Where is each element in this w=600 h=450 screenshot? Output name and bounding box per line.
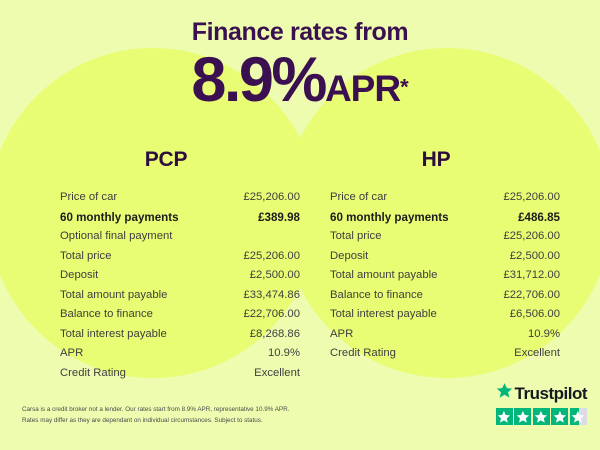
table-row: Credit RatingExcellent [60, 364, 300, 383]
header-block: Finance rates from 8.9%APR* [0, 0, 600, 112]
trustpilot-badge[interactable]: Trustpilot [496, 382, 587, 425]
rate-suffix: APR [325, 68, 400, 109]
row-value: £25,206.00 [243, 192, 300, 203]
page-title: Finance rates from [0, 18, 600, 47]
table-row: APR10.9% [330, 325, 560, 344]
row-label: Balance to finance [60, 309, 153, 320]
trustpilot-star-rating [496, 408, 587, 425]
table-row: Total interest payable£8,268.86 [60, 325, 300, 344]
row-label: Total price [330, 231, 382, 242]
row-value: £22,706.00 [503, 290, 560, 301]
table-row: 60 monthly payments£486.85 [330, 207, 560, 227]
rate-headline: 8.9%APR* [0, 49, 600, 112]
rate-asterisk: * [400, 75, 409, 100]
table-row: Deposit£2,500.00 [330, 247, 560, 266]
row-label: Deposit [330, 251, 368, 262]
table-row: Balance to finance£22,706.00 [330, 286, 560, 305]
finance-table-hp: Price of car£25,206.0060 monthly payment… [330, 188, 560, 364]
row-label: Credit Rating [60, 368, 126, 379]
row-value: £22,706.00 [243, 309, 300, 320]
row-label: Total interest payable [60, 329, 167, 340]
finance-rates-graphic: Finance rates from 8.9%APR* PCP Price of… [0, 0, 600, 450]
panel-title-pcp: PCP [60, 148, 300, 172]
row-label: 60 monthly payments [330, 212, 449, 224]
finance-panel-hp: HP Price of car£25,206.0060 monthly paym… [330, 148, 560, 364]
rating-star [533, 408, 550, 425]
row-value: Excellent [254, 368, 300, 379]
row-label: 60 monthly payments [60, 212, 179, 224]
rating-star [514, 408, 531, 425]
rate-value: 8.9% [191, 45, 325, 115]
panel-title-hp: HP [330, 148, 560, 172]
table-row: Total price£25,206.00 [330, 227, 560, 246]
table-row: Total amount payable£33,474.86 [60, 286, 300, 305]
table-row: Total interest payable£6,506.00 [330, 305, 560, 324]
row-label: Balance to finance [330, 290, 423, 301]
star-icon [496, 382, 513, 404]
row-value: Excellent [514, 348, 560, 359]
rating-star [496, 408, 513, 425]
row-value: £6,506.00 [510, 309, 560, 320]
row-value: 10.9% [528, 329, 560, 340]
row-label: Total price [60, 251, 112, 262]
trustpilot-name: Trustpilot [515, 385, 587, 402]
trustpilot-wordmark: Trustpilot [496, 382, 587, 404]
table-row: Credit RatingExcellent [330, 344, 560, 363]
row-label: Total amount payable [330, 270, 437, 281]
row-label: Total amount payable [60, 290, 167, 301]
rating-star [551, 408, 568, 425]
row-label: Credit Rating [330, 348, 396, 359]
table-row: Price of car£25,206.00 [330, 188, 560, 207]
row-value: £25,206.00 [243, 251, 300, 262]
row-value: £389.98 [258, 212, 300, 224]
row-label: Price of car [60, 192, 117, 203]
table-row: Optional final payment [60, 227, 300, 246]
row-value: £486.85 [518, 212, 560, 224]
finance-table-pcp: Price of car£25,206.0060 monthly payment… [60, 188, 300, 383]
row-value: £2,500.00 [510, 251, 560, 262]
table-row: Total amount payable£31,712.00 [330, 266, 560, 285]
disclaimer-line-1: Carsa is a credit broker not a lender. O… [22, 404, 352, 415]
row-value: £2,500.00 [250, 270, 300, 281]
row-label: APR [330, 329, 353, 340]
table-row: 60 monthly payments£389.98 [60, 207, 300, 227]
row-label: APR [60, 348, 83, 359]
disclaimer-line-2: Rates may differ as they are dependant o… [22, 415, 352, 426]
row-value: £25,206.00 [503, 192, 560, 203]
row-value: £25,206.00 [503, 231, 560, 242]
row-label: Price of car [330, 192, 387, 203]
finance-panel-pcp: PCP Price of car£25,206.0060 monthly pay… [60, 148, 300, 383]
row-value: 10.9% [268, 348, 300, 359]
row-label: Deposit [60, 270, 98, 281]
table-row: Deposit£2,500.00 [60, 266, 300, 285]
row-label: Total interest payable [330, 309, 437, 320]
table-row: Total price£25,206.00 [60, 247, 300, 266]
table-row: Price of car£25,206.00 [60, 188, 300, 207]
table-row: Balance to finance£22,706.00 [60, 305, 300, 324]
row-value: £31,712.00 [503, 270, 560, 281]
table-row: APR10.9% [60, 344, 300, 363]
row-value: £8,268.86 [250, 329, 300, 340]
disclaimer-text: Carsa is a credit broker not a lender. O… [22, 404, 352, 426]
rating-star [570, 408, 587, 425]
row-value: £33,474.86 [243, 290, 300, 301]
row-label: Optional final payment [60, 231, 172, 242]
